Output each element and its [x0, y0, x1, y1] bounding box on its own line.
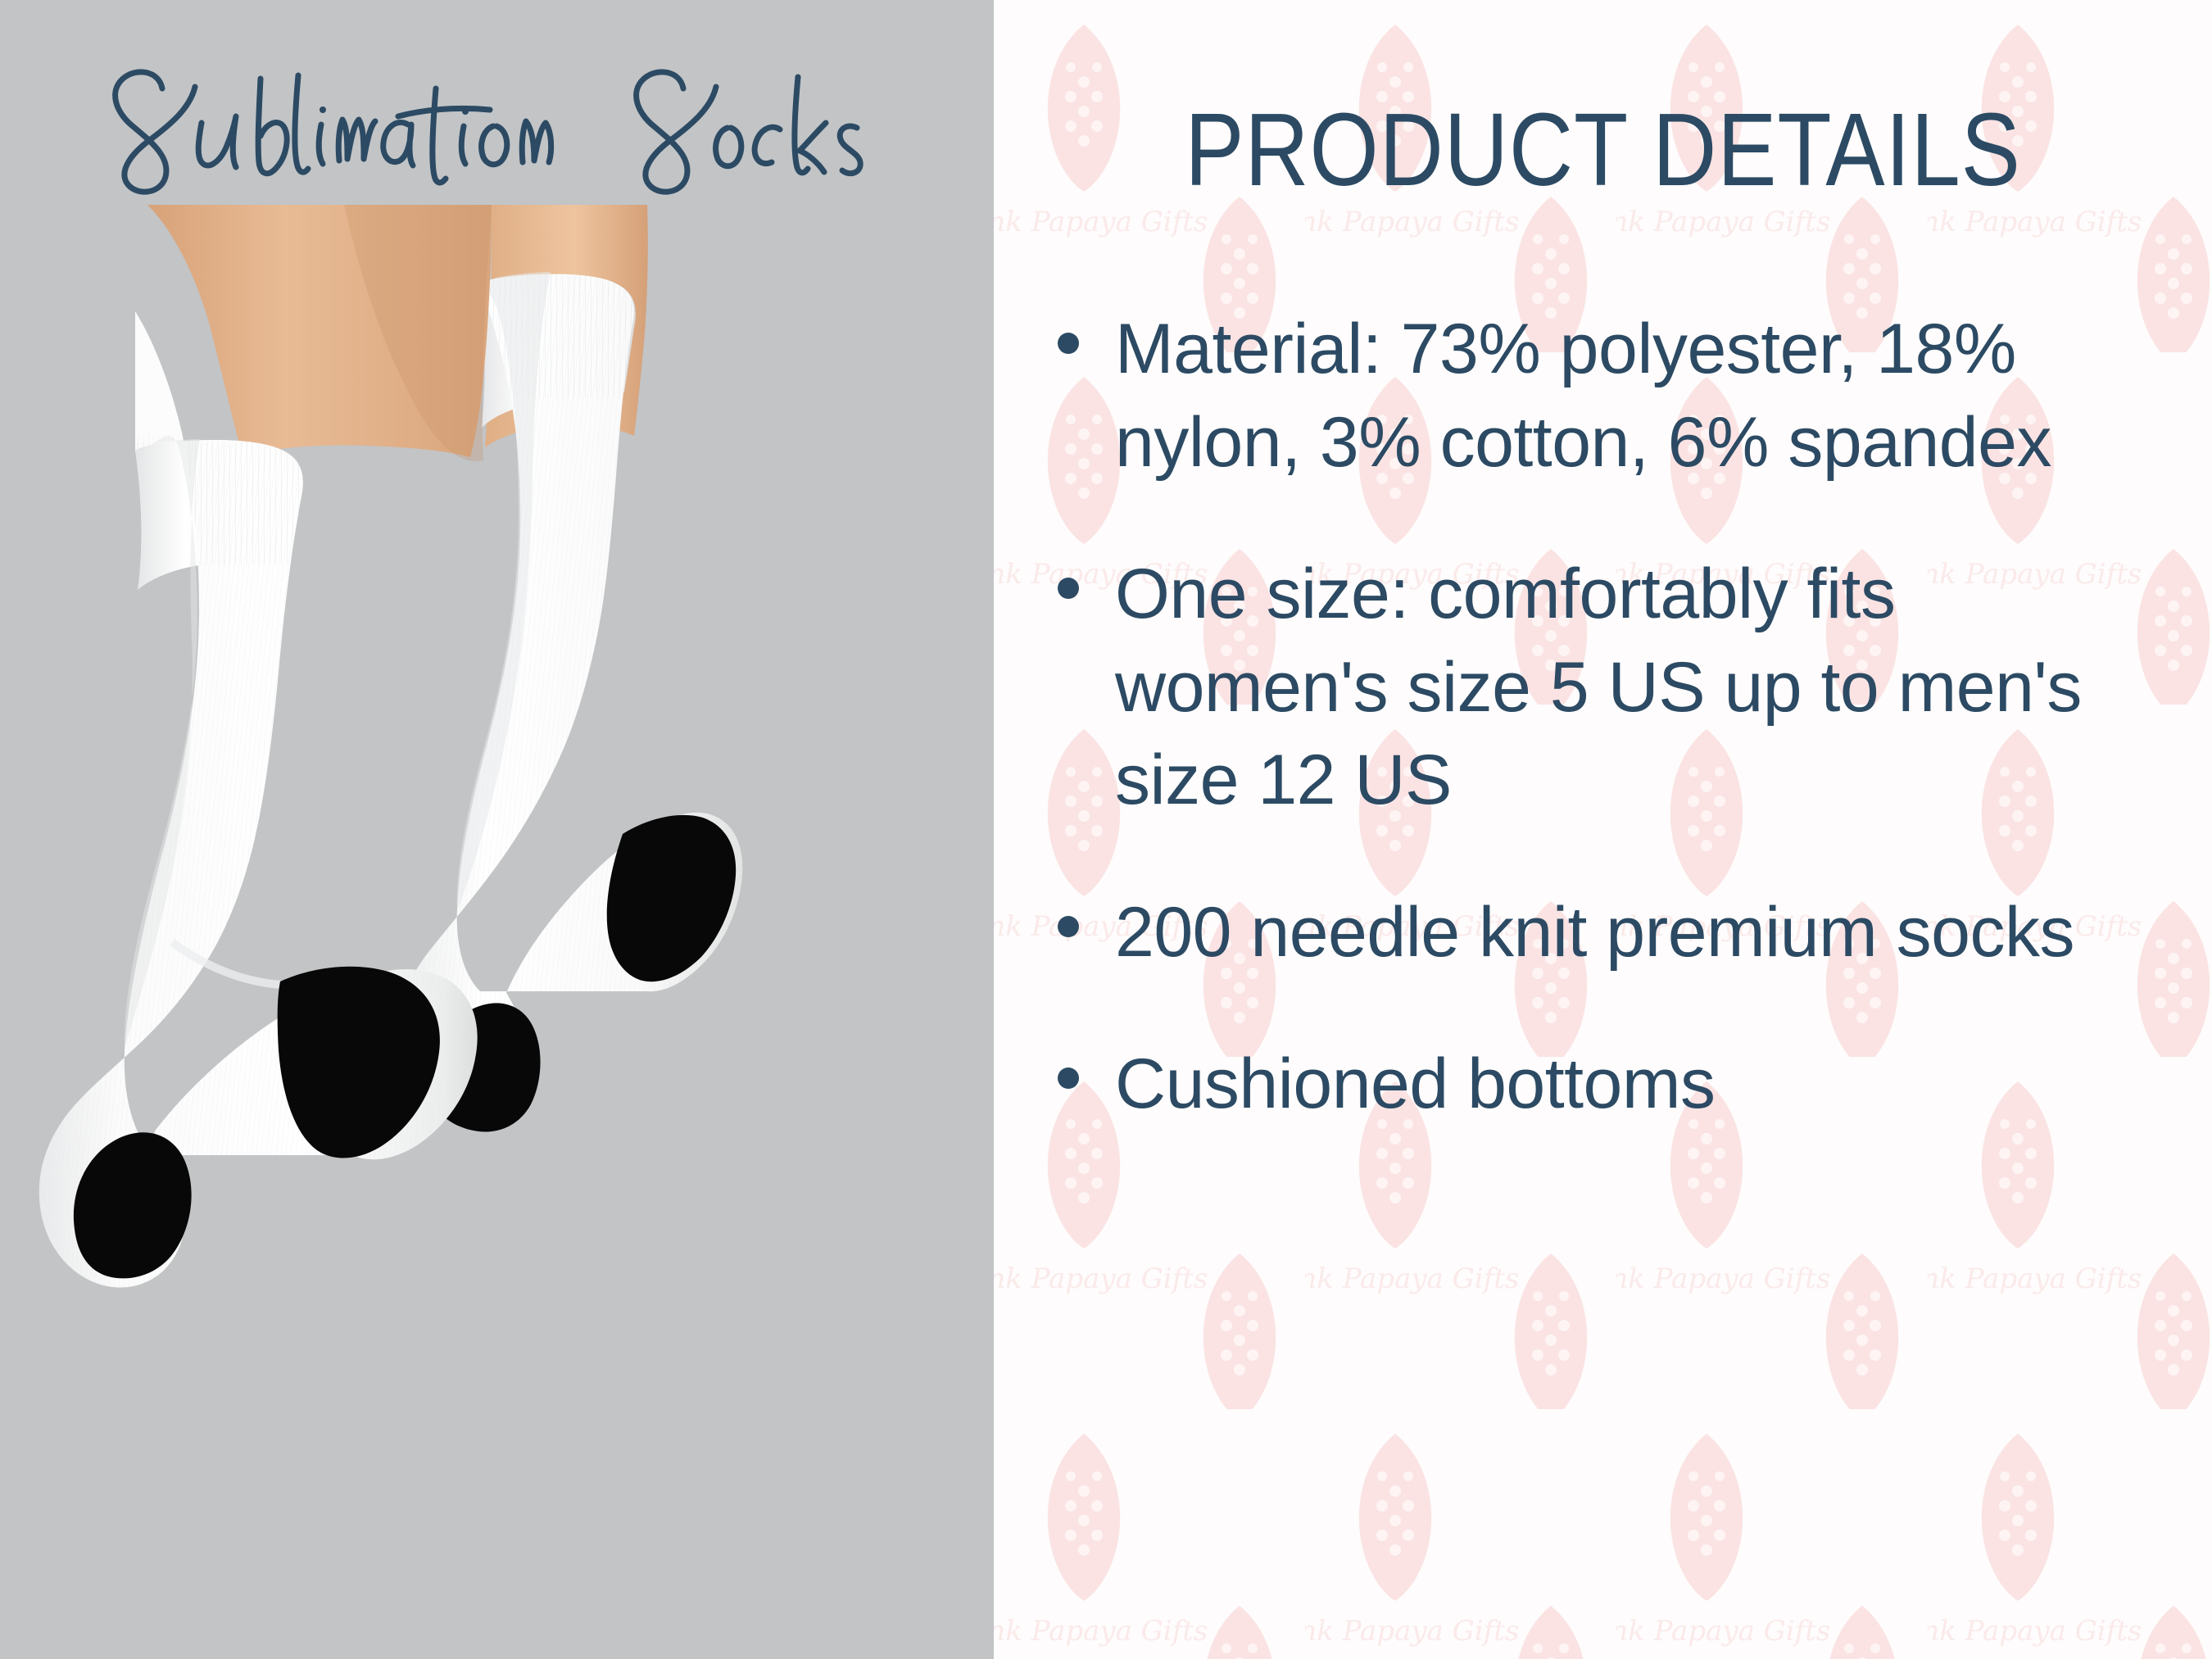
list-item: Cushioned bottoms — [1058, 1038, 2155, 1131]
product-image-panel — [0, 0, 994, 1659]
bullet-dot-icon — [1058, 1067, 1079, 1089]
bullet-dot-icon — [1058, 916, 1079, 937]
list-item-label: Cushioned bottoms — [1115, 1038, 2155, 1131]
bullet-dot-icon — [1058, 578, 1079, 599]
product-listing-page: Pink Papaya Gifts PRODUCT DETAILS Materi… — [0, 0, 2212, 1659]
product-details-list: Material: 73% polyester, 18% nylon, 3% c… — [1058, 303, 2155, 1131]
list-item: 200 needle knit premium socks — [1058, 886, 2155, 980]
list-item: One size: comfortably fits women's size … — [1058, 548, 2155, 827]
bullet-dot-icon — [1058, 333, 1079, 354]
list-item-label: One size: comfortably fits women's size … — [1115, 548, 2155, 827]
list-item-label: 200 needle knit premium socks — [1115, 886, 2155, 980]
socks-mockup-image — [0, 205, 994, 1434]
list-item-label: Material: 73% polyester, 18% nylon, 3% c… — [1115, 303, 2155, 489]
list-item: Material: 73% polyester, 18% nylon, 3% c… — [1058, 303, 2155, 489]
product-details-panel: Pink Papaya Gifts PRODUCT DETAILS Materi… — [994, 0, 2212, 1659]
brand-script-title — [38, 38, 955, 202]
page-title: PRODUCT DETAILS — [1079, 98, 2127, 202]
